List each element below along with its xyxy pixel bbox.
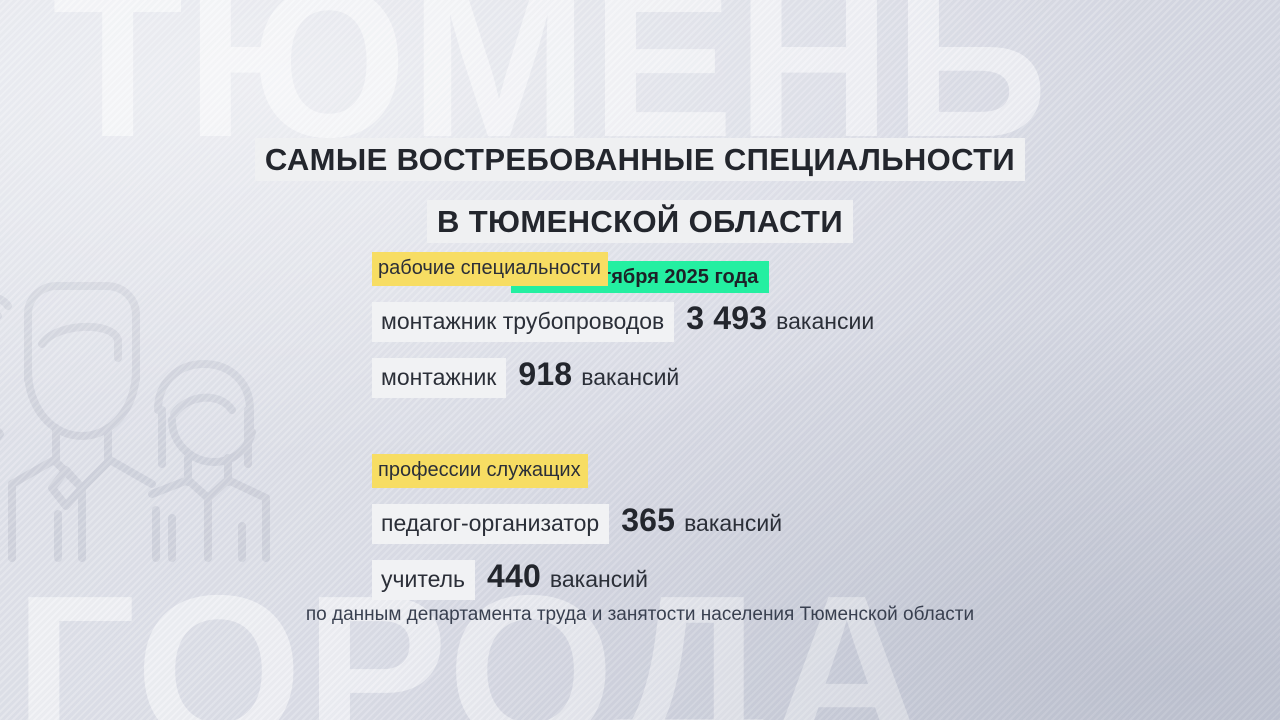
infographic-slide: ТЮМЕНЬ ГОРОДА [0, 0, 1280, 720]
stat-row-value: 3 493 [686, 300, 767, 337]
stat-row: монтажник трубопроводов 3 493 вакансии [372, 300, 1132, 342]
page-title-line-2-text: В ТЮМЕНСКОЙ ОБЛАСТИ [431, 204, 849, 239]
page-title-line-1-text: САМЫЕ ВОСТРЕБОВАННЫЕ СПЕЦИАЛЬНОСТИ [259, 142, 1021, 177]
stat-row: педагог-организатор 365 вакансий [372, 502, 1132, 544]
group-label-white-collar: профессии служащих [372, 454, 588, 488]
stat-row: монтажник 918 вакансий [372, 356, 1132, 398]
stat-row-name: учитель [372, 560, 475, 600]
stat-row-value: 918 [518, 356, 572, 393]
group-rows-blue-collar: монтажник трубопроводов 3 493 вакансии м… [372, 300, 1132, 398]
stat-row-value: 440 [487, 558, 541, 595]
page-title-line-2: В ТЮМЕНСКОЙ ОБЛАСТИ [0, 201, 1280, 243]
source-note: по данным департамента труда и занятости… [0, 602, 1280, 629]
stat-row-unit: вакансии [776, 308, 874, 335]
stat-row-unit: вакансий [550, 566, 648, 593]
stat-row: учитель 440 вакансий [372, 558, 1132, 600]
slide-content: САМЫЕ ВОСТРЕБОВАННЫЕ СПЕЦИАЛЬНОСТИ В ТЮМ… [0, 0, 1280, 720]
stat-row-unit: вакансий [581, 364, 679, 391]
stats-groups: рабочие специальности монтажник трубопро… [372, 252, 1132, 600]
stat-row-name: монтажник трубопроводов [372, 302, 674, 342]
group-rows-white-collar: педагог-организатор 365 вакансий учитель… [372, 502, 1132, 600]
stat-row-unit: вакансий [684, 510, 782, 537]
stats-group-white-collar: профессии служащих педагог-организатор 3… [372, 454, 1132, 600]
stat-row-name: монтажник [372, 358, 506, 398]
stat-row-value: 365 [621, 502, 675, 539]
group-label-blue-collar: рабочие специальности [372, 252, 608, 286]
stat-row-name: педагог-организатор [372, 504, 609, 544]
stats-group-blue-collar: рабочие специальности монтажник трубопро… [372, 252, 1132, 398]
page-title-line-1: САМЫЕ ВОСТРЕБОВАННЫЕ СПЕЦИАЛЬНОСТИ [0, 139, 1280, 181]
